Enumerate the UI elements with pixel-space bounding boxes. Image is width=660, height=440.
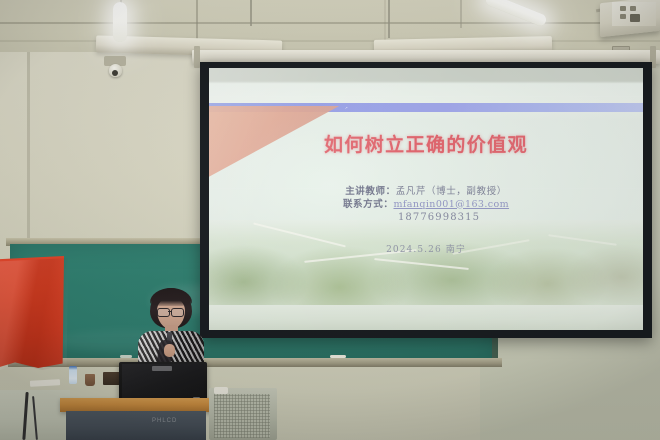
chalk-tray (8, 358, 502, 367)
lecture-room-photo: 如何树立正确的价值观 主讲教师：孟凡芹（博士，副教授） 联系方式：mfanqin… (0, 0, 660, 440)
slide-great-wall-photo (209, 220, 643, 306)
screen-scanline-2 (209, 188, 643, 189)
chalk-piece (330, 355, 346, 358)
slide-date-place: 2024.5.26 南宁 (209, 242, 643, 255)
slide-title: 如何树立正确的价值观 (209, 130, 643, 157)
slide-contact-block: 主讲教师：孟凡芹（博士，副教授） 联系方式：mfanqin001@163.com… (209, 185, 643, 224)
projector-vent-3 (620, 14, 626, 19)
cup (85, 374, 95, 386)
presenter-fringe (150, 288, 192, 306)
contact-row: 联系方式：mfanqin001@163.com (209, 198, 643, 211)
contact-label: 联系方式： (343, 199, 394, 210)
glasses-right-lens-icon (171, 308, 184, 317)
great-wall-path-3 (374, 258, 469, 270)
projector-vent-2 (630, 6, 636, 11)
glasses-bridge (168, 311, 171, 312)
presenter-row: 主讲教师：孟凡芹（博士，副教授） (209, 185, 643, 198)
eraser (214, 387, 228, 394)
presentation-slide: 如何树立正确的价值观 主讲教师：孟凡芹（博士，副教授） 联系方式：mfanqin… (209, 68, 643, 330)
glasses-left-lens-icon (157, 308, 170, 317)
projection-screen-surface: 如何树立正确的价值观 主讲教师：孟凡芹（博士，副教授） 联系方式：mfanqin… (209, 68, 643, 330)
podium-body (66, 411, 206, 440)
ceiling-seam (0, 22, 660, 24)
speaker-grill (214, 394, 270, 438)
presenter-hand (164, 344, 175, 357)
fluorescent-tube-left (113, 2, 127, 42)
red-flag-shading (0, 258, 68, 370)
projector-lens-icon (630, 14, 640, 22)
slide-bottom-strip (209, 305, 643, 330)
phone-number: 18776998315 (209, 211, 643, 224)
podium-top-surface (60, 398, 213, 412)
screen-scanline (209, 96, 643, 97)
email-link[interactable]: mfanqin001@163.com (393, 199, 509, 210)
monitor-brand-logo (152, 366, 172, 371)
camera-lens-icon (112, 70, 118, 76)
water-bottle (69, 366, 77, 384)
light-stem-right-2 (460, 0, 462, 28)
podium-label: PHLCD (152, 418, 177, 424)
projector-vent (620, 6, 626, 11)
light-stem-right (388, 0, 390, 38)
light-stem-left-2 (250, 0, 252, 26)
